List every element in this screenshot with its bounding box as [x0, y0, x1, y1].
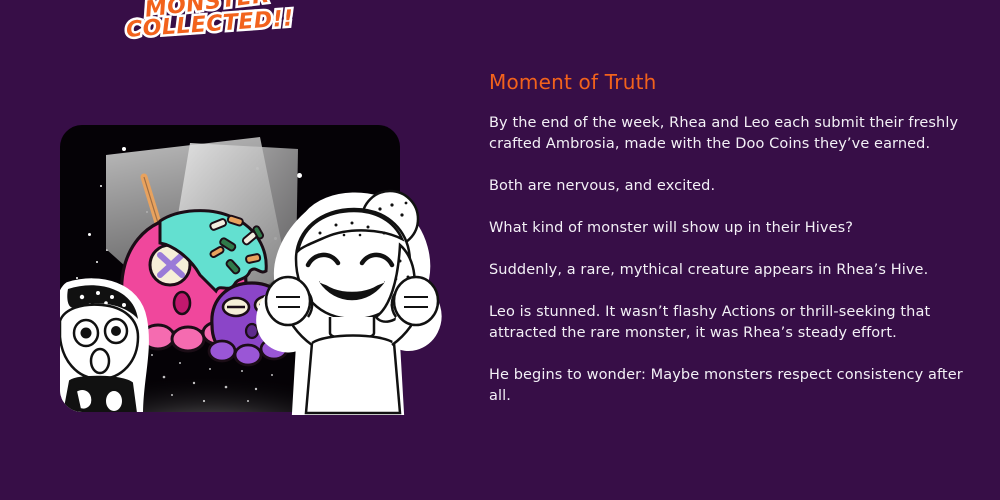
page-title: Moment of Truth	[489, 70, 656, 94]
paragraph: Leo is stunned. It wasn’t flashy Actions…	[489, 302, 965, 344]
paragraph: He begins to wonder: Maybe monsters resp…	[489, 365, 965, 407]
article-body: By the end of the week, Rhea and Leo eac…	[489, 113, 965, 407]
badge-line-1: MONSTER	[106, 0, 308, 27]
text-column: Moment of Truth By the end of the week, …	[489, 0, 969, 500]
boy-character	[60, 275, 162, 412]
girl-character	[250, 185, 450, 415]
paragraph: What kind of monster will show up in the…	[489, 218, 965, 239]
slide-root: MONSTER COLLECTED!! Moment of Truth By t…	[0, 0, 1000, 500]
badge-line-2: COLLECTED!!	[109, 5, 310, 44]
monster-collected-badge: MONSTER COLLECTED!!	[106, 0, 313, 72]
paragraph: Both are nervous, and excited.	[489, 176, 965, 197]
paragraph: By the end of the week, Rhea and Leo eac…	[489, 113, 965, 155]
paragraph: Suddenly, a rare, mythical creature appe…	[489, 260, 965, 281]
illustration-panel: MONSTER COLLECTED!!	[0, 0, 470, 500]
